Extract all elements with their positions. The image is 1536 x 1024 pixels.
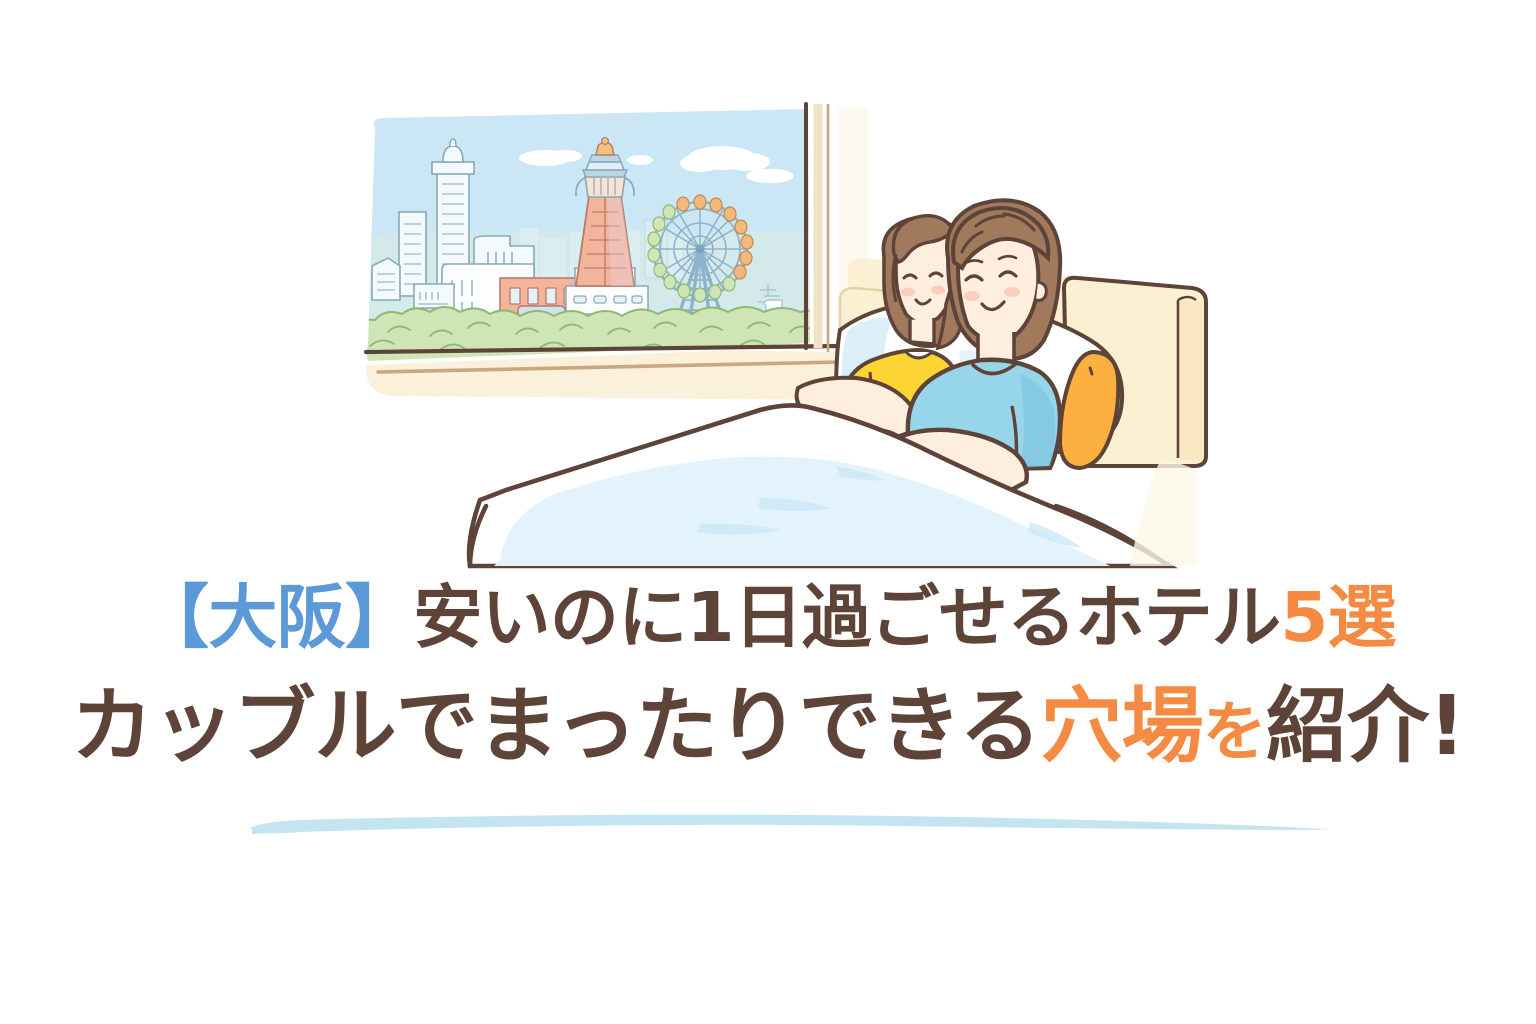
woman-neck — [910, 318, 934, 344]
title-main-text-3: 紹介! — [1266, 686, 1465, 768]
title-line-1: 【大阪】安いのに1日過ごせるホテル5選 — [0, 584, 1536, 670]
window-view — [355, 100, 835, 378]
headboard-shadow — [1180, 300, 1202, 460]
bed-base-right — [1130, 460, 1196, 566]
title-tag-osaka: 【大阪】 — [140, 584, 413, 653]
title-highlight-anaba: 穴場 — [1040, 686, 1202, 768]
cushion-stitch — [1090, 368, 1092, 374]
title-line-2: カッブルでまったりできる穴場を紹介! — [0, 686, 1536, 786]
window-assembly — [355, 98, 868, 420]
title-main-text-2: カッブルでまったりできる — [71, 686, 1040, 768]
woman-cheek-right — [931, 286, 945, 295]
underline-container — [0, 800, 1536, 860]
landmark-left-small-block — [372, 258, 400, 300]
landmark-low-wide-building — [414, 284, 454, 308]
title-particle-wo: を — [1203, 702, 1266, 766]
woman-cheek-left — [901, 288, 915, 297]
man-cheek-left — [964, 291, 980, 301]
hero-illustration — [0, 0, 1536, 570]
man-cheek-right — [1004, 287, 1020, 297]
title-main-text-1: 安いのに1日過ごせるホテル — [413, 584, 1280, 653]
poster-canvas: 【大阪】安いのに1日過ごせるホテル5選 カッブルでまったりできる穴場を紹介! — [0, 0, 1536, 1024]
title-count-badge: 5選 — [1280, 584, 1396, 653]
